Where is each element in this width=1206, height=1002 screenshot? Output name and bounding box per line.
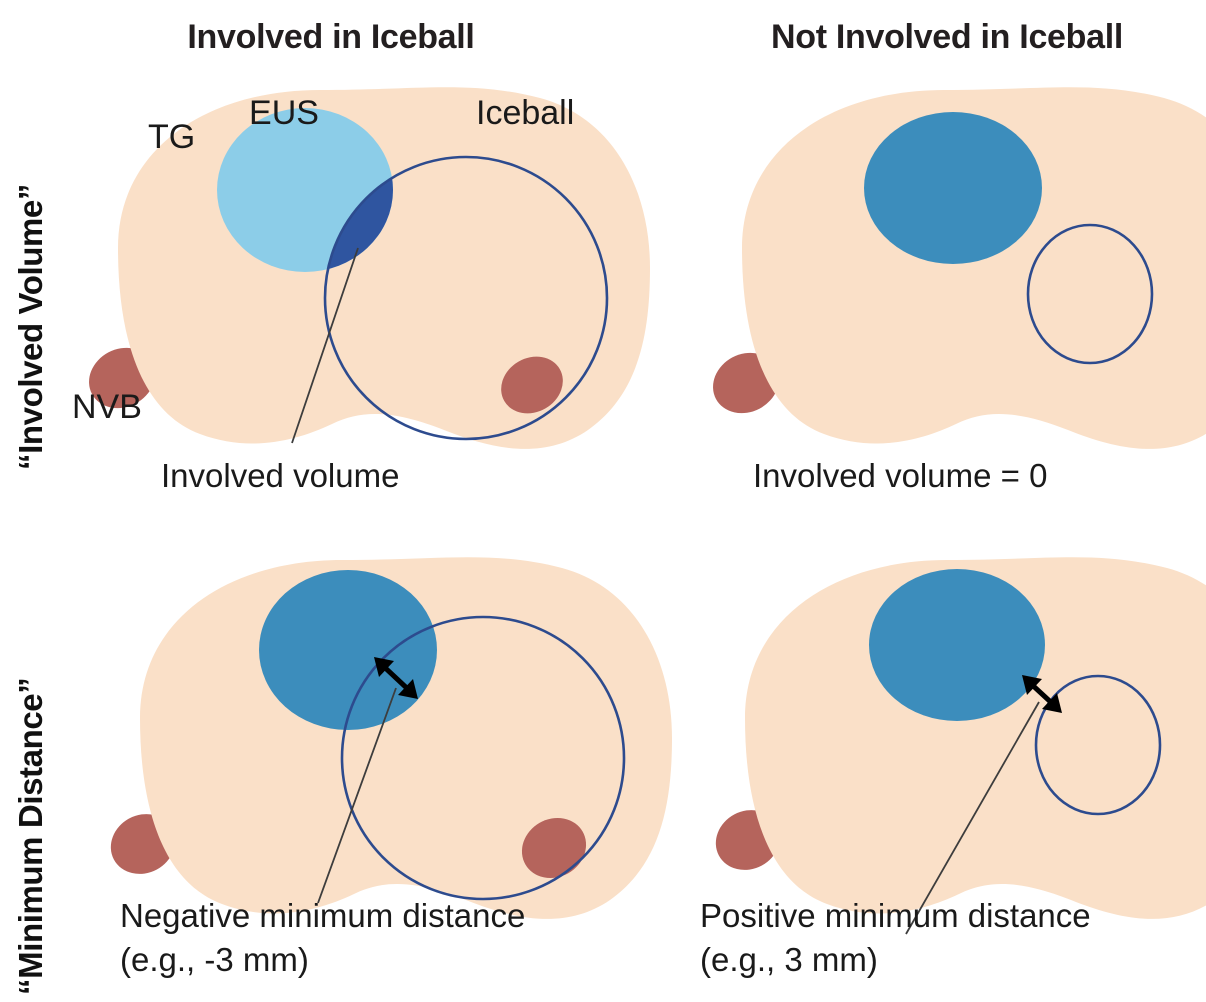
panel-top-right-caption: Involved volume = 0: [753, 457, 1047, 494]
eus-lesion-shape: [869, 569, 1045, 721]
row-title-minimum-distance-label: “Minimum Distance”: [12, 678, 49, 995]
panel-bottom-left: Negative minimum distance (e.g., -3 mm): [100, 557, 672, 978]
panel-bottom-left-caption-line2: (e.g., -3 mm): [120, 941, 309, 978]
panel-bottom-right-caption-line1: Positive minimum distance: [700, 897, 1091, 934]
row-title-minimum-distance: “Minimum Distance”: [12, 678, 49, 995]
row-title-involved-volume: “Involved Volume”: [12, 184, 49, 470]
panel-bottom-right-caption-line2: (e.g., 3 mm): [700, 941, 878, 978]
panel-bottom-left-caption-line1: Negative minimum distance: [120, 897, 525, 934]
row-title-involved-volume-label: “Involved Volume”: [12, 184, 49, 470]
panel-top-left: TG EUS Iceball NVB Involved volume: [72, 87, 650, 494]
panel-top-right: Involved volume = 0: [702, 87, 1206, 494]
iceball-label: Iceball: [476, 94, 574, 132]
panel-top-left-caption: Involved volume: [161, 457, 399, 494]
figure-canvas: “Involved Volume” “Minimum Distance” Inv…: [0, 0, 1206, 1002]
nvb-label: NVB: [72, 388, 142, 426]
column-title-involved: Involved in Iceball: [187, 18, 474, 56]
column-title-not-involved: Not Involved in Iceball: [771, 18, 1123, 56]
eus-label: EUS: [249, 94, 319, 132]
eus-lesion-shape: [864, 112, 1042, 264]
eus-lesion-shape: [259, 570, 437, 730]
tg-label: TG: [148, 118, 195, 156]
panel-bottom-right: Positive minimum distance (e.g., 3 mm): [700, 557, 1206, 978]
